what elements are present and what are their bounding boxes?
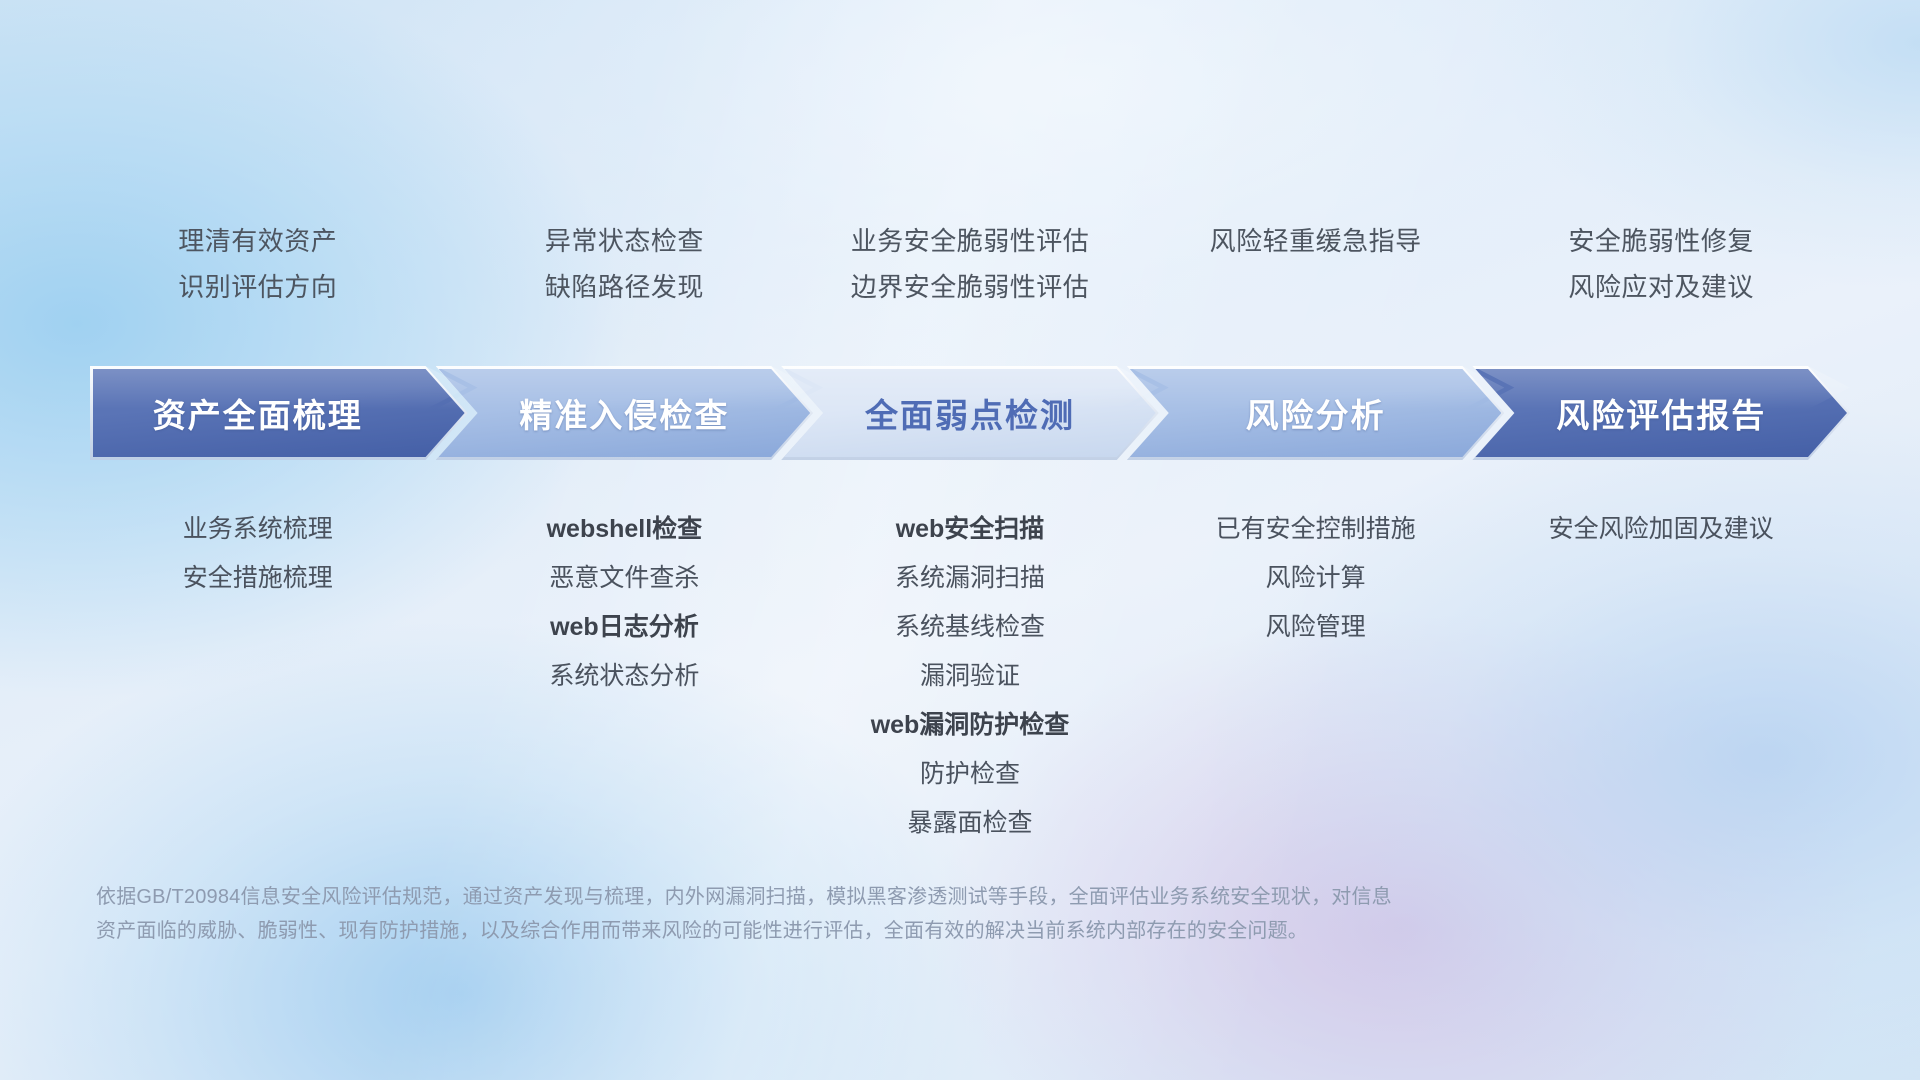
stage-label: 风险分析: [1246, 389, 1386, 437]
bottom-list-item: 系统漏洞扫描: [770, 554, 1170, 603]
bottom-list-item: 风险管理: [1116, 603, 1516, 652]
top-label-item: 安全脆弱性修复: [1461, 218, 1861, 264]
top-labels-intrusion-check: 异常状态检查缺陷路径发现: [424, 218, 824, 310]
bottom-list-item: 防护检查: [770, 750, 1170, 799]
bottom-list-item: 漏洞验证: [770, 652, 1170, 701]
bottom-list-item: 恶意文件查杀: [424, 554, 824, 603]
stage-label: 全面弱点检测: [865, 389, 1075, 437]
top-label-item: 理清有效资产: [58, 218, 458, 264]
bottom-list-item: web日志分析: [424, 603, 824, 652]
top-labels-asset-inventory: 理清有效资产识别评估方向: [58, 218, 458, 310]
bottom-list-item: 业务系统梳理: [58, 505, 458, 554]
bottom-list-risk-analysis: 已有安全控制措施风险计算风险管理: [1116, 505, 1516, 652]
process-stage-weakness-detection[interactable]: 全面弱点检测: [781, 366, 1159, 460]
bottom-list-item: 系统基线检查: [770, 603, 1170, 652]
stage-top-labels: 理清有效资产识别评估方向异常状态检查缺陷路径发现业务安全脆弱性评估边界安全脆弱性…: [0, 218, 1920, 328]
top-label-item: 风险轻重缓急指导: [1116, 218, 1516, 264]
bottom-list-item: web漏洞防护检查: [770, 701, 1170, 750]
top-label-item: 异常状态检查: [424, 218, 824, 264]
top-label-item: 业务安全脆弱性评估: [770, 218, 1170, 264]
stage-label: 风险评估报告: [1556, 389, 1766, 437]
footer-line-2: 资产面临的威胁、脆弱性、现有防护措施，以及综合作用而带来风险的可能性进行评估，全…: [96, 914, 1716, 948]
slide-canvas: 理清有效资产识别评估方向异常状态检查缺陷路径发现业务安全脆弱性评估边界安全脆弱性…: [0, 0, 1920, 1080]
bottom-list-item: 安全风险加固及建议: [1461, 505, 1861, 554]
bottom-list-item: 风险计算: [1116, 554, 1516, 603]
bottom-list-item: web安全扫描: [770, 505, 1170, 554]
stage-label: 资产全面梳理: [153, 389, 363, 437]
top-label-item: 识别评估方向: [58, 264, 458, 310]
top-labels-risk-report: 安全脆弱性修复风险应对及建议: [1461, 218, 1861, 310]
bottom-list-item: 安全措施梳理: [58, 554, 458, 603]
top-label-item: 缺陷路径发现: [424, 264, 824, 310]
footer-description: 依据GB/T20984信息安全风险评估规范，通过资产发现与梳理，内外网漏洞扫描，…: [96, 880, 1716, 948]
process-stage-asset-inventory[interactable]: 资产全面梳理: [90, 366, 468, 460]
top-labels-risk-analysis: 风险轻重缓急指导: [1116, 218, 1516, 264]
bottom-list-item: 已有安全控制措施: [1116, 505, 1516, 554]
bottom-list-asset-inventory: 业务系统梳理安全措施梳理: [58, 505, 458, 603]
top-labels-weakness-detection: 业务安全脆弱性评估边界安全脆弱性评估: [770, 218, 1170, 310]
bottom-list-item: 系统状态分析: [424, 652, 824, 701]
bottom-list-item: webshell检查: [424, 505, 824, 554]
stage-label: 精准入侵检查: [519, 389, 729, 437]
bottom-list-weakness-detection: web安全扫描系统漏洞扫描系统基线检查漏洞验证web漏洞防护检查防护检查暴露面检…: [770, 505, 1170, 848]
bottom-list-intrusion-check: webshell检查恶意文件查杀web日志分析系统状态分析: [424, 505, 824, 701]
top-label-item: 风险应对及建议: [1461, 264, 1861, 310]
top-label-item: 边界安全脆弱性评估: [770, 264, 1170, 310]
bottom-list-risk-report: 安全风险加固及建议: [1461, 505, 1861, 554]
footer-line-1: 依据GB/T20984信息安全风险评估规范，通过资产发现与梳理，内外网漏洞扫描，…: [96, 880, 1716, 914]
process-stage-intrusion-check[interactable]: 精准入侵检查: [436, 366, 814, 460]
process-stage-risk-report[interactable]: 风险评估报告: [1472, 366, 1850, 460]
process-stage-risk-analysis[interactable]: 风险分析: [1127, 366, 1505, 460]
bottom-list-item: 暴露面检查: [770, 799, 1170, 848]
process-chevron-band: 资产全面梳理精准入侵检查全面弱点检测风险分析风险评估报告: [90, 366, 1850, 460]
